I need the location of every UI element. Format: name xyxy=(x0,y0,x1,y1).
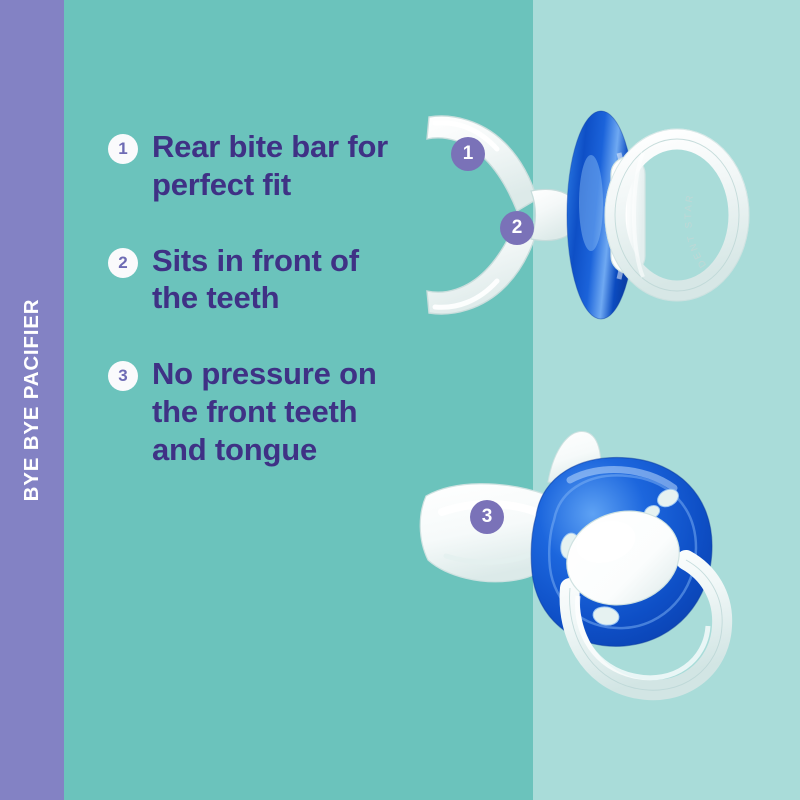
side-rail: BYE BYE PACIFIER xyxy=(0,0,64,800)
brand-vertical-label: BYE BYE PACIFIER xyxy=(20,299,44,502)
benefit-text: Sits in front of the teeth xyxy=(152,242,408,318)
pacifier-side-view-image: DENT STAR xyxy=(405,95,755,340)
benefit-number-badge: 1 xyxy=(108,134,138,164)
benefit-item: 3 No pressure on the front teeth and ton… xyxy=(108,355,408,468)
pacifier-front-view-image xyxy=(420,420,760,740)
benefits-list: 1 Rear bite bar for perfect fit 2 Sits i… xyxy=(108,128,408,469)
benefit-text: No pressure on the front teeth and tongu… xyxy=(152,355,408,468)
benefit-number-badge: 2 xyxy=(108,248,138,278)
benefit-number-badge: 3 xyxy=(108,361,138,391)
pacifier-side-svg: DENT STAR xyxy=(405,95,755,340)
ring-embossed-text: DENT STAR xyxy=(683,192,709,269)
callout-badge-1: 1 xyxy=(451,137,485,171)
infographic-poster: BYE BYE PACIFIER 1 Rear bite bar for per… xyxy=(0,0,800,800)
benefit-item: 1 Rear bite bar for perfect fit xyxy=(108,128,408,204)
benefit-text: Rear bite bar for perfect fit xyxy=(152,128,408,204)
benefit-item: 2 Sits in front of the teeth xyxy=(108,242,408,318)
pacifier-front-svg xyxy=(420,420,760,740)
callout-badge-3: 3 xyxy=(470,500,504,534)
callout-badge-2: 2 xyxy=(500,211,534,245)
